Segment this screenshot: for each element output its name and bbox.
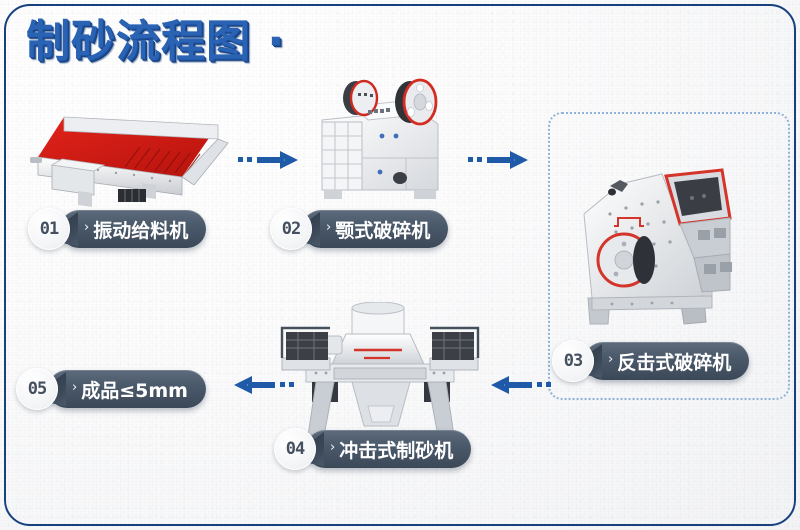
step-label-05[interactable]: 05 › 成品≤5mm [16,368,206,410]
machine-impact-crusher [562,158,754,333]
step-pill-05[interactable]: › 成品≤5mm [48,370,206,408]
step-label-03[interactable]: 03 › 反击式破碎机 [552,340,749,382]
machine-jaw-crusher [310,62,465,212]
step-text-03: 反击式破碎机 [617,348,731,375]
step-text-05: 成品≤5mm [81,376,188,403]
chevron-right-icon: › [330,440,335,455]
step-number-05: 05 [16,368,58,410]
step-number-03: 03 [552,340,594,382]
arrow-impact-to-sandmaker [489,373,551,397]
arrow-sandmaker-to-product [232,373,294,397]
step-label-01[interactable]: 01 › 振动给料机 [28,208,206,250]
step-pill-01[interactable]: › 振动给料机 [60,210,206,248]
step-label-04[interactable]: 04 › 冲击式制砂机 [274,428,471,470]
step-number-02: 02 [270,208,312,250]
step-pill-02[interactable]: › 颚式破碎机 [302,210,448,248]
machine-vibrating-feeder [22,95,242,215]
chevron-right-icon: › [72,380,77,395]
chevron-right-icon: › [84,220,89,235]
page-title: 制砂流程图 · [26,20,285,64]
arrow-jaw-to-impact [468,148,530,172]
step-pill-03[interactable]: › 反击式破碎机 [584,342,749,380]
step-number-01: 01 [28,208,70,250]
step-text-04: 冲击式制砂机 [339,436,453,463]
step-number-04: 04 [274,428,316,470]
chevron-right-icon: › [608,352,613,367]
machine-vsi-sand-maker [272,302,488,442]
step-pill-04[interactable]: › 冲击式制砂机 [306,430,471,468]
chevron-right-icon: › [326,220,331,235]
flowchart-canvas: 制砂流程图 · [0,0,800,530]
step-text-01: 振动给料机 [93,216,188,243]
arrow-feeder-to-jaw [238,148,300,172]
step-label-02[interactable]: 02 › 颚式破碎机 [270,208,448,250]
step-text-02: 颚式破碎机 [335,216,430,243]
